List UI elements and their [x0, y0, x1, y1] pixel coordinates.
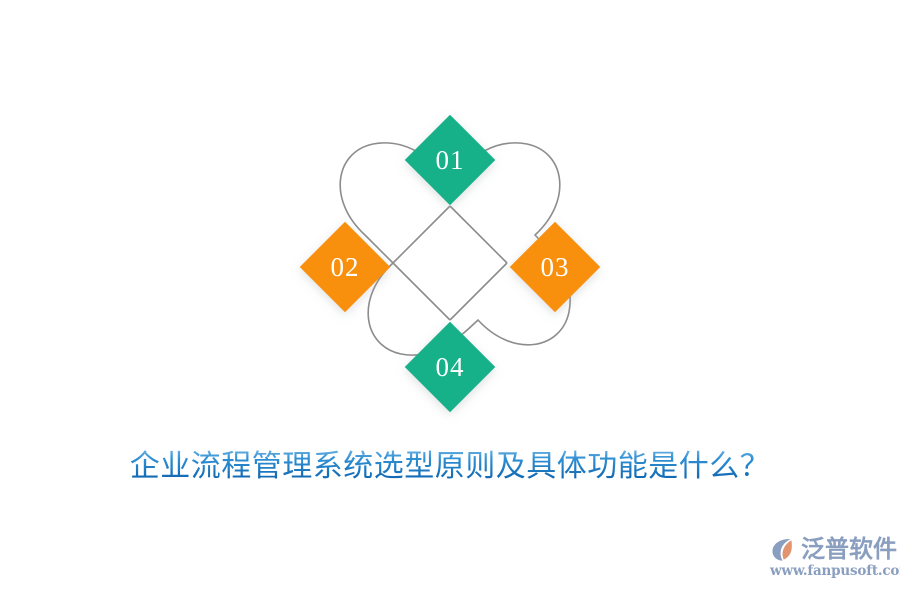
node-01-shape[interactable] — [405, 115, 496, 206]
fanpu-circle-icon — [768, 534, 798, 564]
connector-inner-lines — [393, 206, 507, 320]
node-02-shape[interactable] — [300, 222, 391, 313]
page-title: 企业流程管理系统选型原则及具体功能是什么？ — [0, 444, 900, 490]
logo-row: 泛普软件 — [768, 533, 897, 565]
logo-brand-text: 泛普软件 — [801, 536, 897, 562]
node-03-shape[interactable] — [510, 222, 601, 313]
brand-logo: 泛普软件 www.fanpusoft.com — [768, 533, 894, 583]
diagram-svg — [255, 80, 645, 450]
process-diagram: 01 02 03 04 — [255, 80, 645, 450]
screenshot-canvas: 01 02 03 04 企业流程管理系统选型原则及具体功能是什么？ 泛普软件 w… — [0, 0, 900, 600]
node-04-shape[interactable] — [405, 322, 496, 413]
logo-url-text: www.fanpusoft.com — [770, 563, 894, 579]
